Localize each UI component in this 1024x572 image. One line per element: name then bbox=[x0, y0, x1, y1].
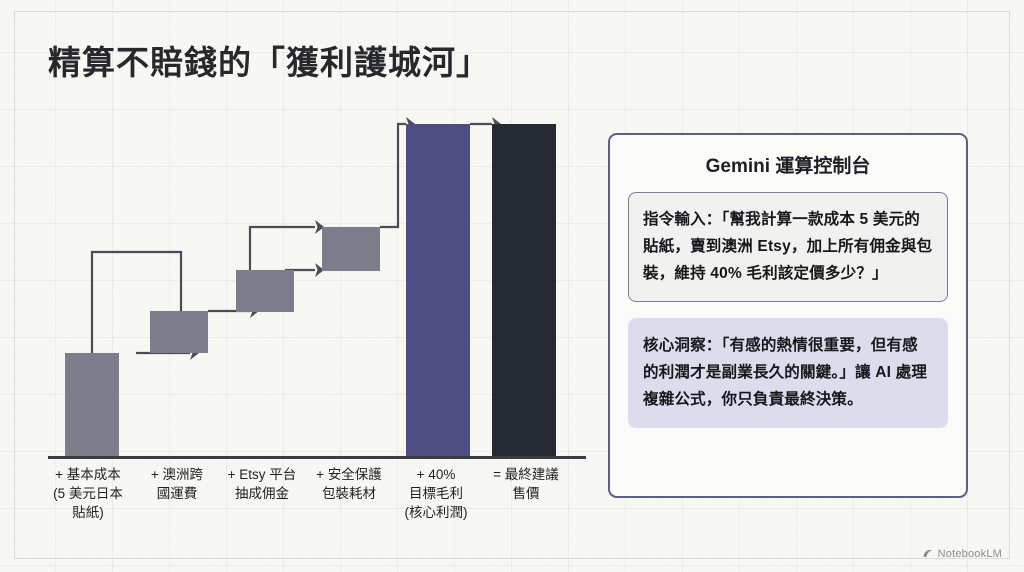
x-label-packaging: + 安全保護 包裝耗材 bbox=[306, 465, 392, 522]
x-label-target-margin: + 40% 目標毛利 (核心利潤) bbox=[392, 465, 480, 522]
bar-final-price[interactable] bbox=[492, 124, 556, 457]
notebooklm-watermark: NotebookLM bbox=[922, 548, 1002, 560]
chart-x-axis-labels: + 基本成本 (5 美元日本 貼紙) + 澳洲跨 國運費 + Etsy 平台 抽… bbox=[40, 465, 600, 522]
chart-axis-line bbox=[48, 456, 586, 459]
x-label-etsy-fee: + Etsy 平台 抽成佣金 bbox=[218, 465, 306, 522]
bar-packaging[interactable] bbox=[322, 227, 380, 271]
waterfall-chart: + 基本成本 (5 美元日本 貼紙) + 澳洲跨 國運費 + Etsy 平台 抽… bbox=[40, 110, 600, 530]
insight-card[interactable]: 核心洞察：「有感的熱情很重要，但有感的利潤才是副業長久的關鍵。」讓 AI 處理複… bbox=[628, 318, 948, 428]
panel-title: Gemini 運算控制台 bbox=[610, 151, 966, 178]
slide-canvas: 精算不賠錢的「獲利護城河」 bbox=[0, 0, 1024, 572]
bar-etsy-fee[interactable] bbox=[236, 270, 294, 312]
x-label-base-cost: + 基本成本 (5 美元日本 貼紙) bbox=[40, 465, 136, 522]
notebooklm-logo-icon bbox=[922, 548, 934, 560]
x-label-shipping: + 澳洲跨 國運費 bbox=[136, 465, 218, 522]
page-title: 精算不賠錢的「獲利護城河」 bbox=[48, 36, 490, 84]
x-label-final-price: = 最終建議 售價 bbox=[480, 465, 572, 522]
chart-plot-area bbox=[40, 110, 600, 460]
bar-shipping[interactable] bbox=[150, 311, 208, 353]
notebooklm-label: NotebookLM bbox=[938, 548, 1002, 560]
bar-base-cost[interactable] bbox=[65, 353, 119, 457]
prompt-card[interactable]: 指令輸入：「幫我計算一款成本 5 美元的貼紙，賣到澳洲 Etsy，加上所有佣金與… bbox=[628, 192, 948, 302]
gemini-console-panel: Gemini 運算控制台 指令輸入：「幫我計算一款成本 5 美元的貼紙，賣到澳洲… bbox=[608, 133, 968, 498]
bar-target-margin[interactable] bbox=[406, 124, 470, 457]
